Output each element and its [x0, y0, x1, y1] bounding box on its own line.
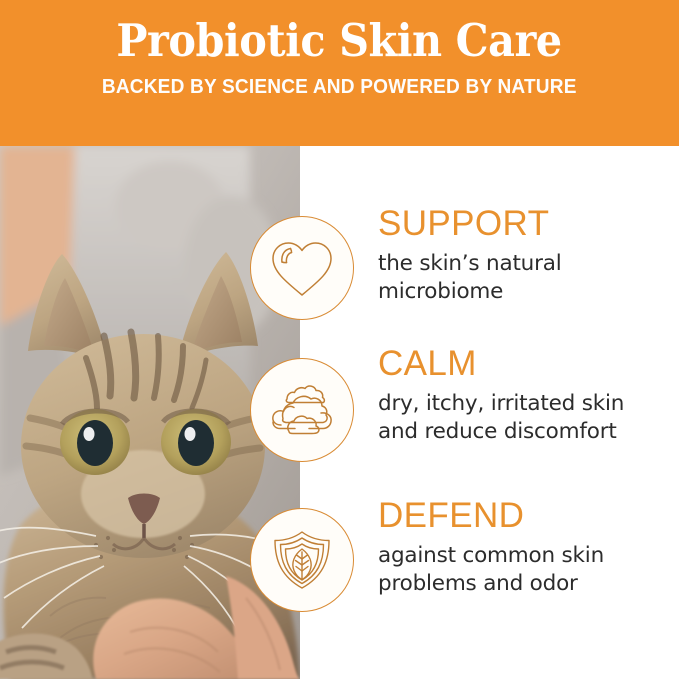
page-title: Probiotic Skin Care: [117, 18, 562, 65]
feature-calm: CALM dry, itchy, irritated skin and redu…: [0, 342, 679, 482]
feature-text-calm: CALM dry, itchy, irritated skin and redu…: [378, 346, 678, 447]
cloud-icon: [250, 358, 354, 462]
header-banner: Probiotic Skin Care BACKED BY SCIENCE AN…: [0, 0, 679, 146]
feature-heading: SUPPORT: [378, 206, 678, 243]
feature-support: SUPPORT the skin’s natural microbiome: [0, 200, 679, 340]
heart-icon: [250, 216, 354, 320]
feature-body: against common skin problems and odor: [378, 542, 678, 599]
feature-text-defend: DEFEND against common skin problems and …: [378, 498, 678, 599]
feature-defend: DEFEND against common skin problems and …: [0, 492, 679, 632]
feature-heading: CALM: [378, 346, 678, 383]
feature-heading: DEFEND: [378, 498, 678, 535]
shield-leaf-icon: [250, 508, 354, 612]
page-subtitle: BACKED BY SCIENCE AND POWERED BY NATURE: [102, 77, 577, 98]
feature-body: the skin’s natural microbiome: [378, 250, 678, 307]
feature-body: dry, itchy, irritated skin and reduce di…: [378, 390, 678, 447]
feature-text-support: SUPPORT the skin’s natural microbiome: [378, 206, 678, 307]
